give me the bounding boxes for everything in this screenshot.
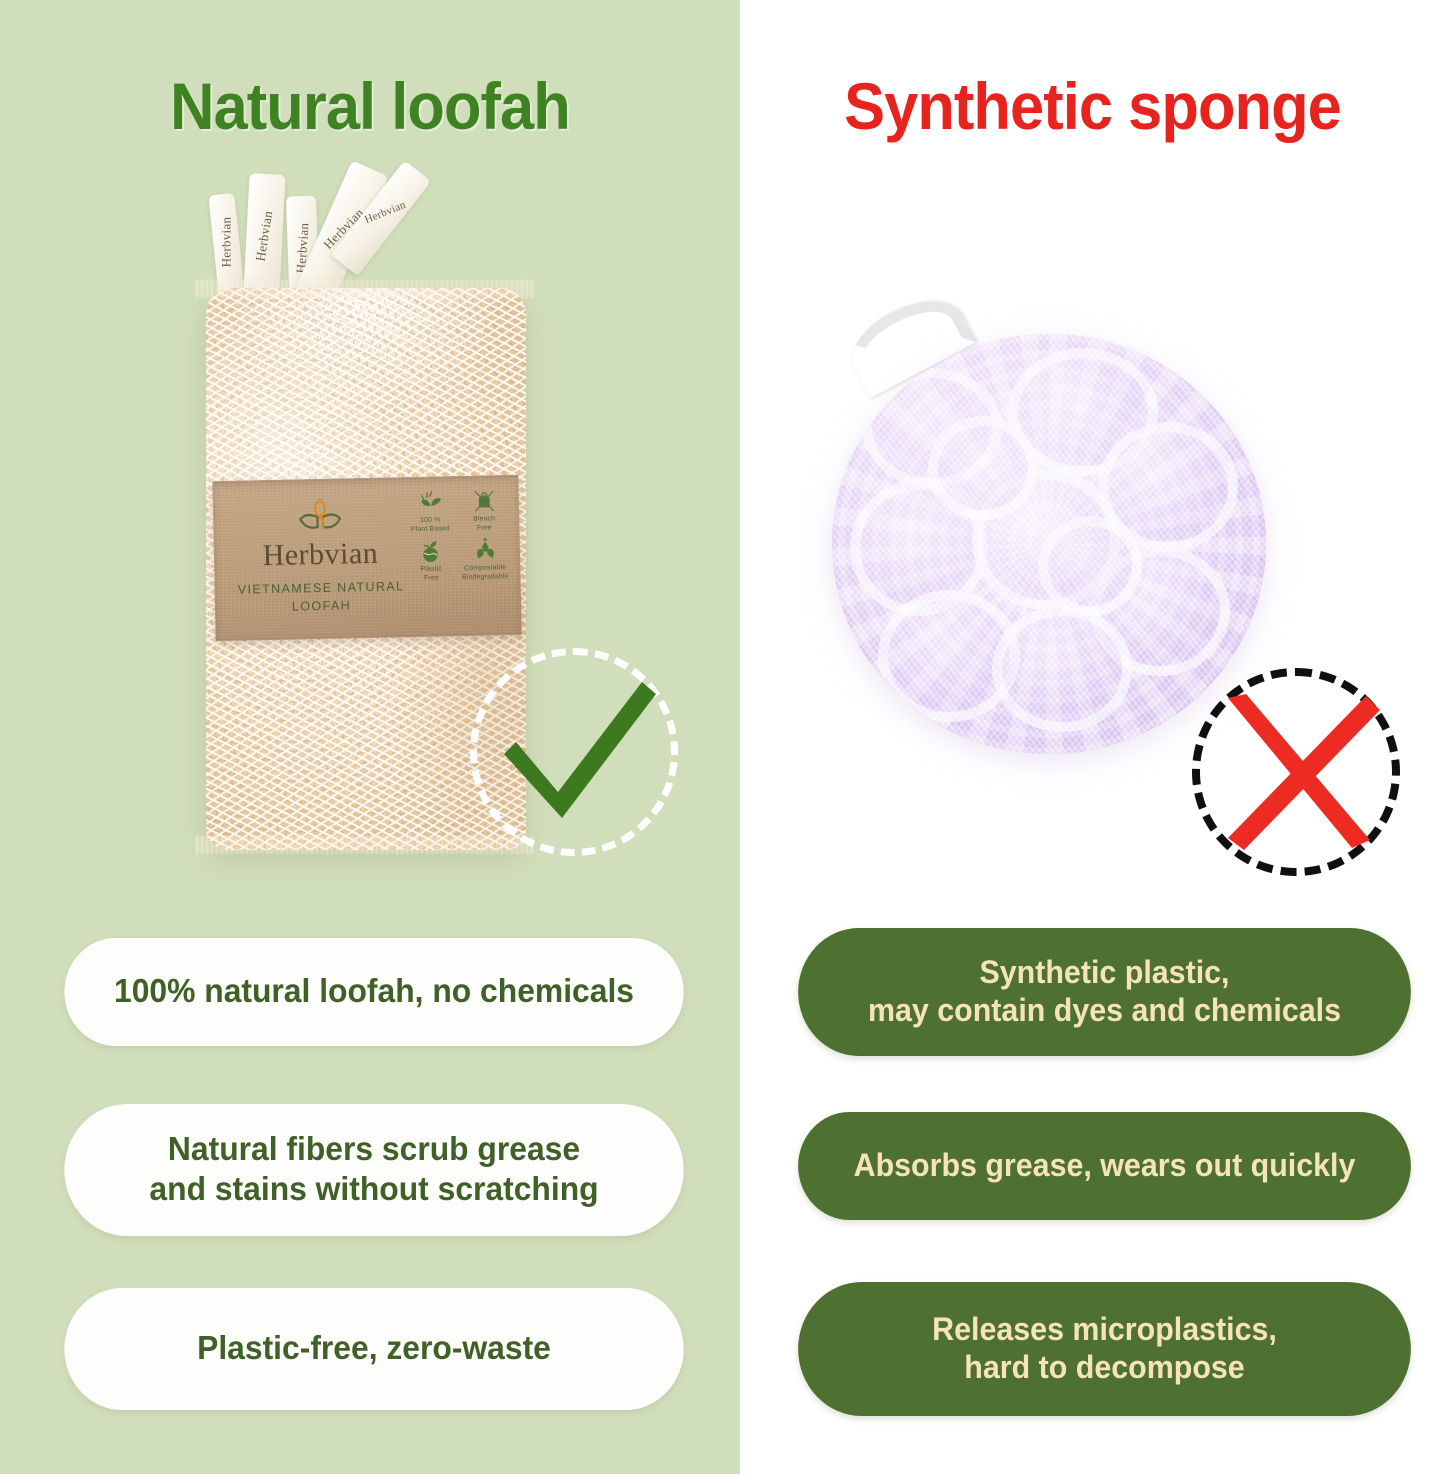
brand-name: Herbvian [228, 538, 414, 572]
drawback-pill-1-line-1: Synthetic plastic, [855, 954, 1355, 992]
drawback-pill-2: Absorbs grease, wears out quickly [798, 1112, 1411, 1220]
no-bleach-icon [470, 487, 498, 515]
mesh-pouf-ball [832, 334, 1266, 754]
brand-block: Herbvian VIETNAMESE NATURAL LOOFAH [227, 495, 414, 617]
heading-synthetic-sponge: Synthetic sponge [765, 68, 1421, 144]
drawback-pill-3: Releases microplastics, hard to decompos… [798, 1282, 1411, 1416]
benefit-pill-3: Plastic-free, zero-waste [64, 1288, 683, 1410]
badge-caption-line-1: Plastic [406, 565, 456, 574]
benefit-pill-3-line-1: Plastic-free, zero-waste [184, 1329, 564, 1369]
badge-caption-line-2: Free [406, 574, 456, 583]
benefit-pill-2-line-1: Natural fibers scrub grease [136, 1130, 612, 1170]
badge-caption-line-1: Compostable [460, 564, 510, 573]
recycle-leaf-icon [471, 536, 499, 564]
brand-subtitle-line-2: LOOFAH [229, 595, 414, 617]
hang-tag-label: Herbvian [363, 199, 408, 226]
comparison-infographic: Natural loofah Synthetic sponge Herbvian… [0, 0, 1445, 1474]
mesh-ruffle [1098, 422, 1238, 552]
synthetic-mesh-pouf [810, 300, 1280, 770]
check-mark-icon [490, 668, 670, 848]
certification-badges: 100 % Plant Based Bleach Free [405, 487, 511, 583]
benefit-pill-1-line-1: 100% natural loofah, no chemicals [101, 972, 648, 1012]
badge-caption-line-2: Biodegradable [460, 573, 510, 582]
drawback-pill-3-line-1: Releases microplastics, [919, 1311, 1290, 1349]
loofah-fiber-edge [196, 836, 536, 854]
product-label-band: Herbvian VIETNAMESE NATURAL LOOFAH 100 %… [212, 475, 521, 641]
drawback-pill-1: Synthetic plastic, may contain dyes and … [798, 928, 1411, 1056]
badge-plastic-free: Plastic Free [406, 537, 457, 583]
benefit-pill-2: Natural fibers scrub grease and stains w… [64, 1104, 683, 1236]
mesh-ruffle [928, 416, 1038, 520]
mesh-ruffle [878, 590, 1020, 722]
drawback-pill-1-line-2: may contain dyes and chemicals [855, 992, 1355, 1030]
benefit-pill-2-line-2: and stains without scratching [136, 1170, 612, 1210]
drawback-pill-3-line-2: hard to decompose [919, 1349, 1290, 1387]
mesh-ruffle [992, 606, 1132, 732]
herbvian-leaf-logo [292, 496, 347, 539]
loofah-fiber-edge [196, 280, 536, 298]
badge-caption-line-2: Plant Based [405, 525, 455, 534]
badge-bleach-free: Bleach Free [459, 487, 510, 533]
badge-caption-line-2: Free [459, 524, 509, 533]
globe-plant-icon [417, 537, 445, 565]
mesh-ruffle [972, 470, 1120, 610]
hang-tag-label: Herbvian [253, 209, 277, 262]
leaves-icon [416, 488, 444, 516]
badge-compostable: Compostable Biodegradable [460, 536, 511, 582]
benefit-pill-1: 100% natural loofah, no chemicals [64, 938, 683, 1046]
badge-caption-line-1: Bleach [459, 515, 509, 524]
hang-tag-label: Herbvian [218, 217, 234, 268]
mesh-ruffle [1038, 516, 1142, 616]
mesh-ruffle [862, 368, 1002, 488]
badge-caption-line-1: 100 % [405, 516, 455, 525]
mesh-ruffle [1090, 546, 1230, 676]
drawback-pill-2-line-1: Absorbs grease, wears out quickly [840, 1147, 1368, 1185]
brand-subtitle: VIETNAMESE NATURAL LOOFAH [228, 577, 414, 617]
mesh-ruffle [850, 480, 988, 616]
x-mark-icon [1212, 690, 1382, 860]
heading-natural-loofah: Natural loofah [26, 68, 714, 144]
mesh-ruffle [1008, 348, 1158, 476]
badge-plant-based: 100 % Plant Based [405, 488, 456, 534]
